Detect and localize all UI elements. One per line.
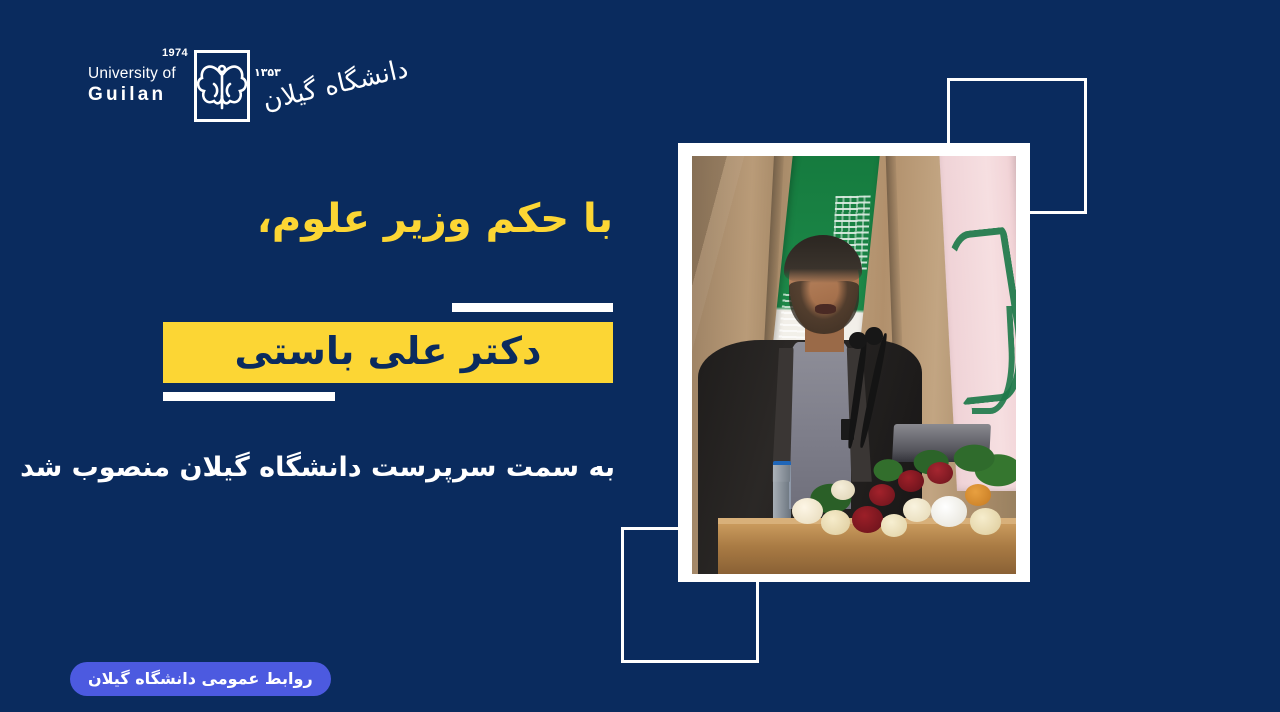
flower-cream: [881, 514, 907, 536]
kicker-text: با حکم وزیر علوم،: [257, 196, 613, 242]
decorative-rule-bottom: [163, 392, 335, 401]
flower-white-rose: [931, 496, 967, 526]
butterfly-emblem-icon: [194, 50, 250, 122]
flower-arrangement: [783, 440, 1016, 540]
subline-text: به سمت سرپرست دانشگاه گیلان منصوب شد: [20, 452, 615, 483]
flower-cream: [970, 508, 1001, 534]
speaker-mouth: [815, 304, 836, 313]
logo-year-gregorian: 1974: [162, 47, 188, 59]
university-logo[interactable]: University of Guilan 1974 ۱۳۵۳ دانشگاه گ…: [88, 44, 408, 140]
public-relations-label: روابط عمومی دانشگاه گیلان: [88, 671, 313, 687]
speaker-photo: [692, 156, 1016, 574]
name-banner: دکتر علی باستی: [163, 322, 613, 383]
decorative-rule-top: [452, 303, 613, 312]
logo-persian-script: دانشگاه گیلان: [254, 48, 404, 138]
flower-cream: [821, 510, 850, 534]
logo-latin-line1: University of: [88, 66, 198, 82]
microphone-head: [865, 327, 883, 345]
logo-latin-text: University of Guilan: [88, 66, 198, 105]
microphone-head: [849, 332, 867, 350]
flower-red-rose: [852, 506, 883, 532]
public-relations-badge[interactable]: روابط عمومی دانشگاه گیلان: [70, 662, 331, 696]
logo-latin-line2: Guilan: [88, 85, 198, 105]
speaker-photo-frame: [678, 143, 1030, 582]
appointee-name: دکتر علی باستی: [235, 332, 542, 373]
flower-white: [831, 480, 855, 500]
logo-persian-name: دانشگاه گیلان: [260, 54, 411, 117]
announcement-poster: University of Guilan 1974 ۱۳۵۳ دانشگاه گ…: [0, 0, 1280, 712]
